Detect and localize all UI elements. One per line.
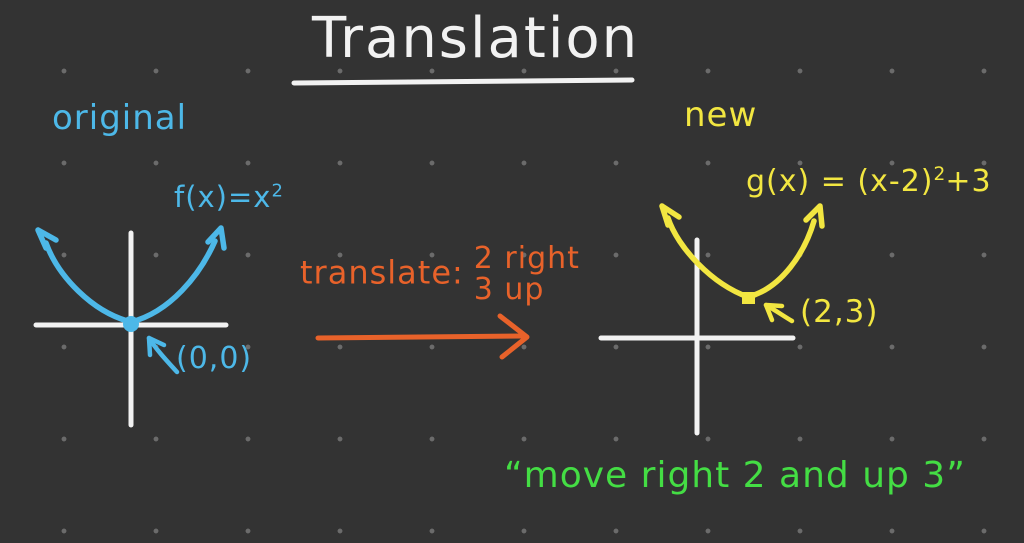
whiteboard-canvas: Translation original f(x)=x2 (0,0) trans… — [0, 0, 1024, 543]
left-vertex-point — [123, 316, 139, 332]
right-vertex-point — [742, 292, 755, 304]
left-parabola-arrowhead-left — [38, 230, 56, 248]
translate-arrow-shaft — [318, 336, 522, 338]
right-parabola-curve — [668, 218, 814, 297]
ink-layer — [0, 0, 1024, 543]
title-underline — [294, 80, 632, 83]
